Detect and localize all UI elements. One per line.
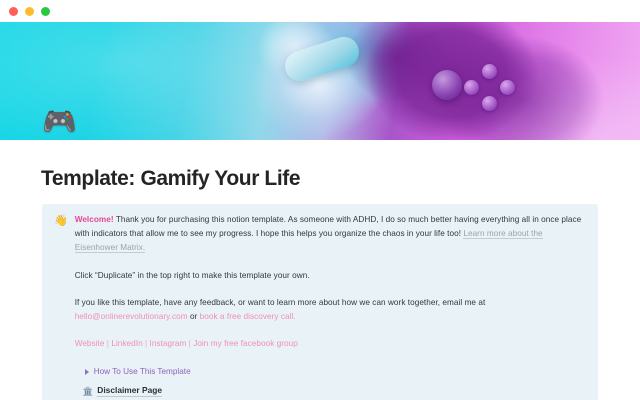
- instagram-link[interactable]: Instagram: [150, 339, 187, 348]
- chevron-right-icon[interactable]: [85, 369, 89, 375]
- controller-thumbstick-shape: [432, 70, 462, 100]
- discovery-call-link[interactable]: book a free discovery call.: [200, 312, 296, 321]
- waving-hand-icon: 👋: [54, 213, 68, 228]
- app-window: 🎮 Template: Gamify Your Life 👋 Welcome! …: [0, 0, 640, 400]
- minimize-button[interactable]: [25, 7, 34, 16]
- controller-button-a-shape: [482, 96, 497, 111]
- social-links-row: Website | LinkedIn | Instagram | Join my…: [75, 337, 586, 351]
- facebook-group-link[interactable]: Join my free facebook group: [193, 339, 298, 348]
- cover-art-gradient: [0, 22, 640, 140]
- callout-body-row: 👋 Welcome! Thank you for purchasing this…: [54, 213, 586, 400]
- controller-button-y-shape: [482, 64, 497, 79]
- page-icon-gamepad-icon[interactable]: 🎮: [42, 108, 77, 136]
- maximize-button[interactable]: [41, 7, 50, 16]
- welcome-lead-text: Welcome!: [75, 215, 114, 224]
- controller-button-b-shape: [500, 80, 515, 95]
- website-link[interactable]: Website: [75, 339, 105, 348]
- callout-paragraph-welcome: Welcome! Thank you for purchasing this n…: [75, 213, 586, 255]
- disclaimer-page-link[interactable]: 🏛️ Disclaimer Page: [83, 384, 586, 397]
- how-to-use-toggle-label[interactable]: How To Use This Template: [94, 366, 191, 378]
- link-separator-2: |: [143, 339, 150, 348]
- window-titlebar: [0, 0, 640, 22]
- contact-or-text: or: [188, 312, 200, 321]
- controller-button-x-shape: [464, 80, 479, 95]
- cover-image[interactable]: [0, 22, 640, 140]
- page-title: Template: Gamify Your Life: [41, 167, 598, 191]
- disclaimer-page-label[interactable]: Disclaimer Page: [97, 384, 162, 397]
- contact-intro-text: If you like this template, have any feed…: [75, 298, 486, 307]
- classical-building-icon: 🏛️: [83, 385, 94, 397]
- page-content: Template: Gamify Your Life 👋 Welcome! Th…: [0, 167, 640, 400]
- callout-paragraph-contact: If you like this template, have any feed…: [75, 296, 586, 324]
- welcome-callout: 👋 Welcome! Thank you for purchasing this…: [42, 204, 598, 400]
- email-link[interactable]: hello@onlinerevolutionary.com: [75, 312, 188, 321]
- callout-paragraph-duplicate: Click “Duplicate” in the top right to ma…: [75, 269, 586, 283]
- how-to-use-toggle[interactable]: How To Use This Template: [85, 366, 586, 378]
- linkedin-link[interactable]: LinkedIn: [111, 339, 142, 348]
- callout-text-column: Welcome! Thank you for purchasing this n…: [75, 213, 586, 400]
- close-button[interactable]: [9, 7, 18, 16]
